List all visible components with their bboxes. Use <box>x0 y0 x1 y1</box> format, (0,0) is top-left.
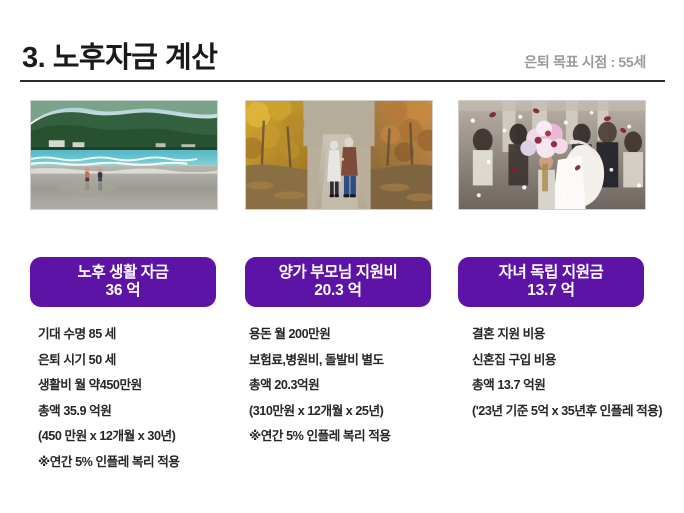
badge-children-independence-fund: 자녀 독립 지원금 13.7 억 <box>458 257 644 307</box>
list-item: 기대 수명 85 세 <box>38 322 238 348</box>
slide-canvas: 3. 노후자금 계산 은퇴 목표 시점 : 55세 <box>0 0 684 513</box>
badge-retirement-living-fund: 노후 생활 자금 36 억 <box>30 257 216 307</box>
badge-title: 자녀 독립 지원금 <box>499 264 604 282</box>
list-item: ('23년 기준 5억 x 35년후 인플레 적용) <box>472 399 672 425</box>
badge-amount: 20.3 억 <box>314 282 362 300</box>
page-title: 3. 노후자금 계산 <box>22 34 217 76</box>
badge-title: 노후 생활 자금 <box>78 264 169 282</box>
badge-parents-support-fund: 양가 부모님 지원비 20.3 억 <box>245 257 431 307</box>
list-item: (450 만원 x 12개월 x 30년) <box>38 424 238 450</box>
category-column-children-independence: 자녀 독립 지원금 13.7 억 결혼 지원 비용 신혼집 구입 비용 총액 1… <box>458 100 648 210</box>
header-divider <box>20 80 665 82</box>
elderly-couple-autumn-path-photo <box>245 100 433 210</box>
detail-list-retirement-living: 기대 수명 85 세 은퇴 시기 50 세 생활비 월 약450만원 총액 35… <box>38 322 238 475</box>
list-item: 용돈 월 200만원 <box>249 322 449 348</box>
beach-scene-illustration <box>31 101 217 209</box>
list-item: 생활비 월 약450만원 <box>38 373 238 399</box>
list-item: 은퇴 시기 50 세 <box>38 348 238 374</box>
list-item: (310만원 x 12개월 x 25년) <box>249 399 449 425</box>
list-item: 총액 13.7 억원 <box>472 373 672 399</box>
badge-title: 양가 부모님 지원비 <box>279 264 398 282</box>
wedding-scene-illustration <box>459 101 645 209</box>
list-item: 총액 20.3억원 <box>249 373 449 399</box>
list-item: 총액 35.9 억원 <box>38 399 238 425</box>
slide-header: 3. 노후자금 계산 은퇴 목표 시점 : 55세 <box>0 0 684 86</box>
badge-amount: 13.7 억 <box>527 282 575 300</box>
list-item: ※연간 5% 인플레 복리 적용 <box>38 450 238 476</box>
list-item: 결혼 지원 비용 <box>472 322 672 348</box>
detail-list-children-independence: 결혼 지원 비용 신혼집 구입 비용 총액 13.7 억원 ('23년 기준 5… <box>472 322 672 424</box>
list-item: ※연간 5% 인플레 복리 적용 <box>249 424 449 450</box>
category-column-retirement-living: 노후 생활 자금 36 억 기대 수명 85 세 은퇴 시기 50 세 생활비 … <box>30 100 220 210</box>
badge-amount: 36 억 <box>105 282 140 300</box>
retirement-target-note: 은퇴 목표 시점 : 55세 <box>524 52 646 72</box>
list-item: 신혼집 구입 비용 <box>472 348 672 374</box>
list-item: 보험료,병원비, 돌발비 별도 <box>249 348 449 374</box>
beach-retirement-photo <box>30 100 218 210</box>
detail-list-parents-support: 용돈 월 200만원 보험료,병원비, 돌발비 별도 총액 20.3억원 (31… <box>249 322 449 450</box>
autumn-path-illustration <box>246 101 432 209</box>
wedding-ceremony-photo <box>458 100 646 210</box>
category-column-parents-support: 양가 부모님 지원비 20.3 억 용돈 월 200만원 보험료,병원비, 돌발… <box>245 100 435 210</box>
